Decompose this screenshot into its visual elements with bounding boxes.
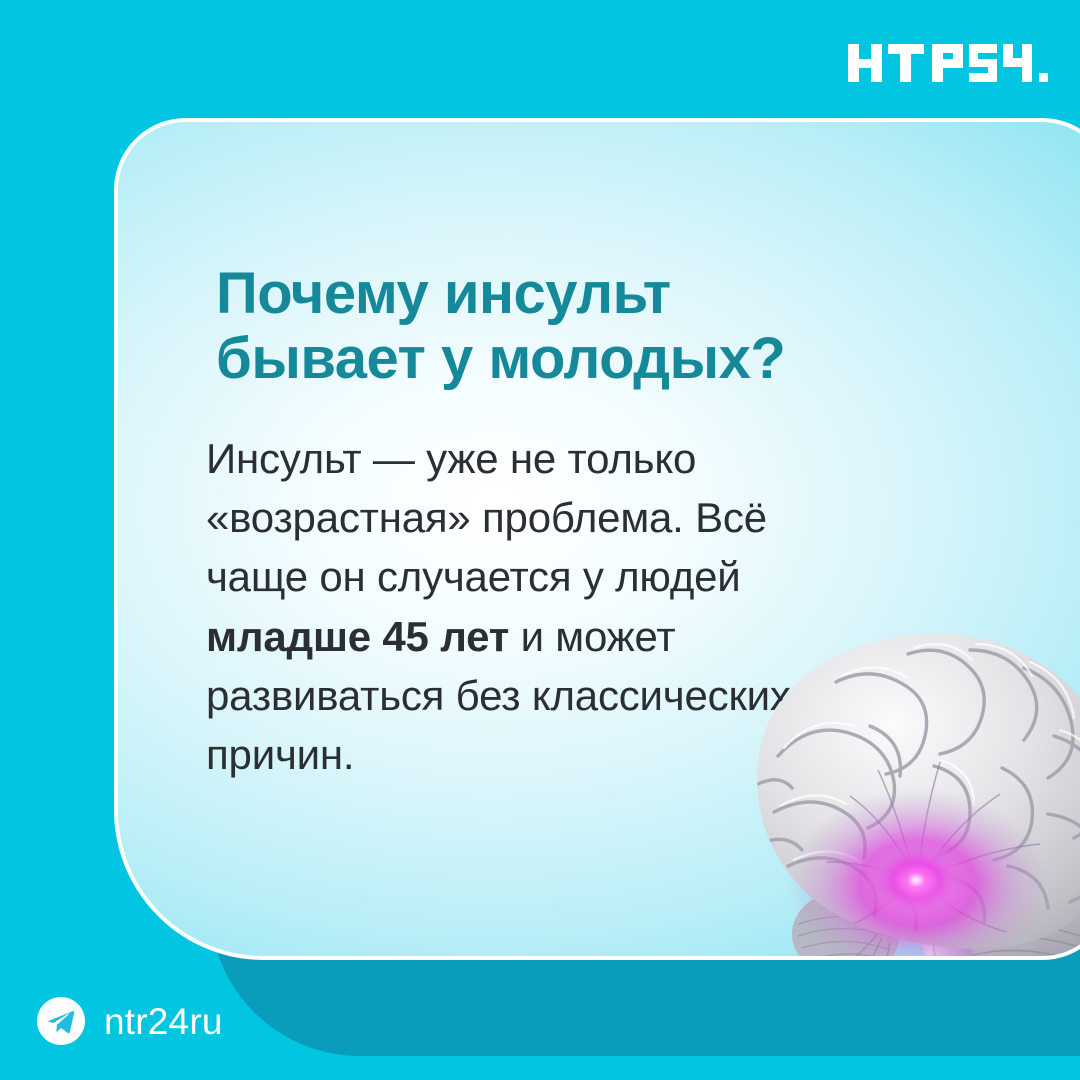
page-title: Почему инсульт бывает у молодых?: [216, 261, 996, 392]
telegram-handle[interactable]: ntr24ru: [104, 1003, 223, 1040]
body-emphasis: младше 45 лет: [206, 613, 509, 660]
poster-canvas: Почему инсульт бывает у молодых? Инсульт…: [0, 0, 1080, 1080]
ntr24-logo: [848, 34, 1048, 92]
telegram-icon[interactable]: [36, 996, 86, 1046]
content-card: Почему инсульт бывает у молодых? Инсульт…: [114, 118, 1080, 960]
telegram-footer[interactable]: ntr24ru: [36, 996, 223, 1046]
body-lead: Инсульт — уже не только «возрастная» про…: [206, 435, 767, 600]
body-paragraph: Инсульт — уже не только «возрастная» про…: [206, 429, 806, 784]
